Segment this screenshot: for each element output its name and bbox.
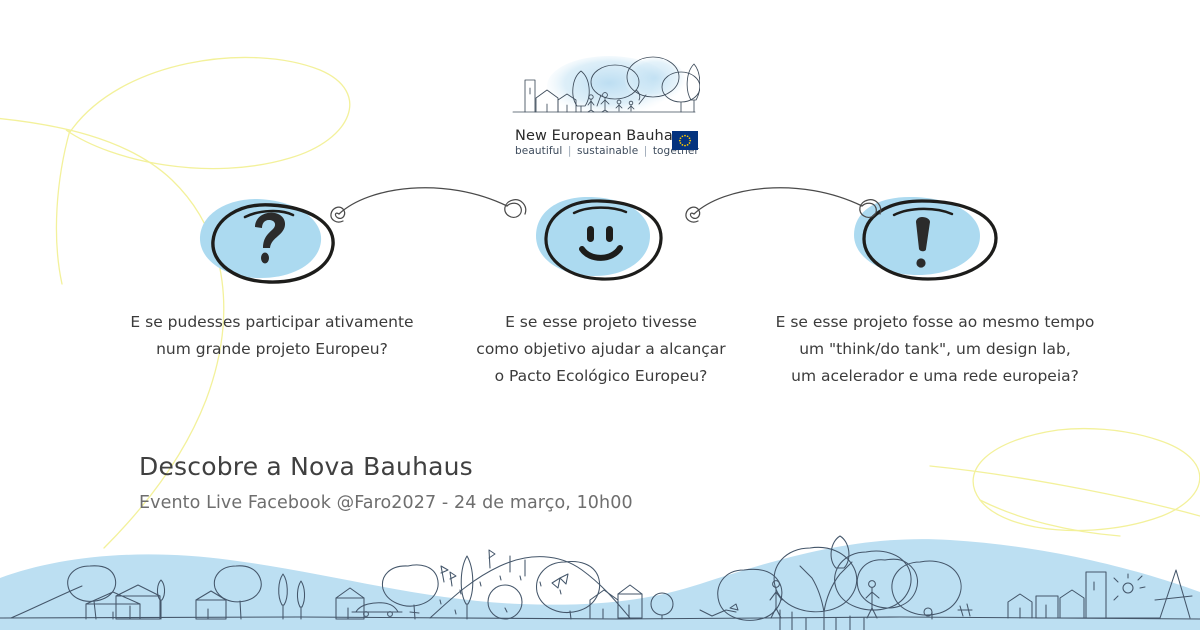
question-text-2: E se esse projeto tivesse como objetivo … — [462, 309, 740, 390]
question-text-line: um acelerador e uma rede europeia? — [760, 363, 1110, 390]
question-mark-bubble-icon — [195, 195, 345, 285]
new-european-bauhaus-logo: New European Bauhaus beautiful | sustain… — [505, 50, 700, 155]
curly-arc-connector-icon — [325, 178, 540, 233]
logo-sketch-illustration — [505, 50, 700, 132]
page-title: Descobre a Nova Bauhaus — [139, 452, 473, 481]
logo-title: New European Bauhaus — [515, 128, 690, 144]
question-text-1: E se pudesses participar ativamente num … — [120, 309, 424, 363]
question-text-line: num grande projeto Europeu? — [120, 336, 424, 363]
question-text-line: E se esse projeto tivesse — [462, 309, 740, 336]
curly-arc-connector-icon — [680, 178, 895, 233]
question-text-line: E se pudesses participar ativamente — [120, 309, 424, 336]
question-text-line: um "think/do tank", um design lab, — [760, 336, 1110, 363]
tagline-word-1: beautiful — [515, 145, 562, 157]
tagline-separator-2: | — [642, 145, 650, 157]
event-details: Evento Live Facebook @Faro2027 - 24 de m… — [139, 493, 633, 513]
tagline-word-2: sustainable — [577, 145, 638, 157]
question-text-3: E se esse projeto fosse ao mesmo tempo u… — [760, 309, 1110, 390]
question-text-line: E se esse projeto fosse ao mesmo tempo — [760, 309, 1110, 336]
smiley-face-bubble-icon — [530, 193, 670, 281]
tagline-separator-1: | — [566, 145, 574, 157]
poster-canvas: New European Bauhaus beautiful | sustain… — [0, 0, 1200, 630]
question-text-line: o Pacto Ecológico Europeu? — [462, 363, 740, 390]
eu-flag-icon — [672, 131, 698, 150]
question-text-line: como objetivo ajudar a alcançar — [462, 336, 740, 363]
logo-tagline: beautiful | sustainable | together — [515, 145, 675, 157]
